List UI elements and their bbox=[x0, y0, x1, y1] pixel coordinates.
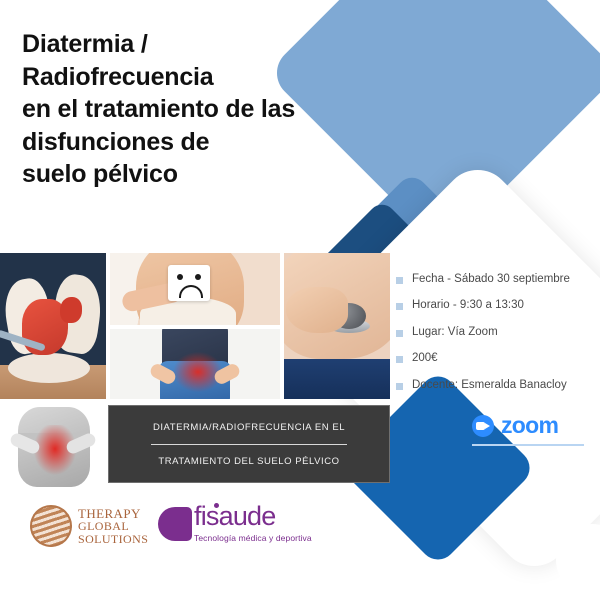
title-line-5: suelo pélvico bbox=[22, 158, 352, 191]
therapy-logo-line-3: SOLUTIONS bbox=[78, 533, 148, 545]
detail-text: 200€ bbox=[412, 351, 438, 365]
title-line-1: Diatermia / bbox=[22, 28, 352, 61]
detail-text: Docente: Esmeralda Banacloy bbox=[412, 378, 567, 392]
logo-fisaude: fisaude Tecnología médica y deportiva bbox=[158, 503, 312, 543]
banner-divider bbox=[151, 444, 347, 445]
bullet-square-icon bbox=[396, 383, 403, 390]
detail-text: Horario - 9:30 a 13:30 bbox=[412, 298, 524, 312]
banner-line-1: DIATERMIA/RADIOFRECUENCIA EN EL bbox=[153, 422, 345, 433]
fisaude-wordmark: fisaude bbox=[194, 503, 312, 530]
therapy-logo-line-2: GLOBAL bbox=[78, 520, 148, 532]
photo-lower-back-pain bbox=[0, 403, 106, 490]
fisaude-tagline: Tecnología médica y deportiva bbox=[194, 533, 312, 543]
detail-text: Fecha - Sábado 30 septiembre bbox=[412, 272, 570, 286]
zoom-wordmark: zoom bbox=[501, 412, 558, 439]
title-line-4: disfunciones de bbox=[22, 126, 352, 159]
therapy-logo-line-1: THERAPY bbox=[78, 507, 148, 520]
detail-text: Lugar: Vía Zoom bbox=[412, 325, 498, 339]
detail-row-precio: 200€ bbox=[396, 351, 596, 365]
detail-row-docente: Docente: Esmeralda Banacloy bbox=[396, 378, 596, 392]
title-line-3: en el tratamiento de las bbox=[22, 93, 352, 126]
detail-row-lugar: Lugar: Vía Zoom bbox=[396, 325, 596, 339]
detail-row-fecha: Fecha - Sábado 30 septiembre bbox=[396, 272, 596, 286]
wave-globe-icon bbox=[30, 505, 72, 547]
course-banner: DIATERMIA/RADIOFRECUENCIA EN EL TRATAMIE… bbox=[108, 405, 390, 483]
photo-pelvic-pain-jeans bbox=[110, 329, 280, 399]
logo-therapy-global-solutions: THERAPY GLOBAL SOLUTIONS bbox=[30, 505, 148, 547]
title-line-2: Radiofrecuencia bbox=[22, 61, 352, 94]
zoom-underline bbox=[472, 444, 584, 446]
page-title: Diatermia / Radiofrecuencia en el tratam… bbox=[22, 28, 352, 191]
zoom-logo: zoom bbox=[472, 412, 558, 439]
photo-pelvis-anatomical-model bbox=[0, 253, 106, 399]
detail-row-horario: Horario - 9:30 a 13:30 bbox=[396, 298, 596, 312]
flyer-canvas: Diatermia / Radiofrecuencia en el tratam… bbox=[0, 0, 600, 600]
event-details-list: Fecha - Sábado 30 septiembre Horario - 9… bbox=[396, 272, 596, 404]
banner-line-2: TRATAMIENTO DEL SUELO PÉLVICO bbox=[158, 456, 339, 467]
video-camera-icon bbox=[472, 415, 494, 437]
photo-abdomen-sad-face-card bbox=[110, 253, 280, 325]
bullet-square-icon bbox=[396, 277, 403, 284]
bullet-square-icon bbox=[396, 330, 403, 337]
fisaude-dot-icon bbox=[214, 503, 219, 508]
bullet-square-icon bbox=[396, 356, 403, 363]
bullet-square-icon bbox=[396, 303, 403, 310]
photo-radiofrequency-treatment bbox=[284, 253, 390, 399]
fan-swoosh-icon bbox=[158, 507, 192, 541]
